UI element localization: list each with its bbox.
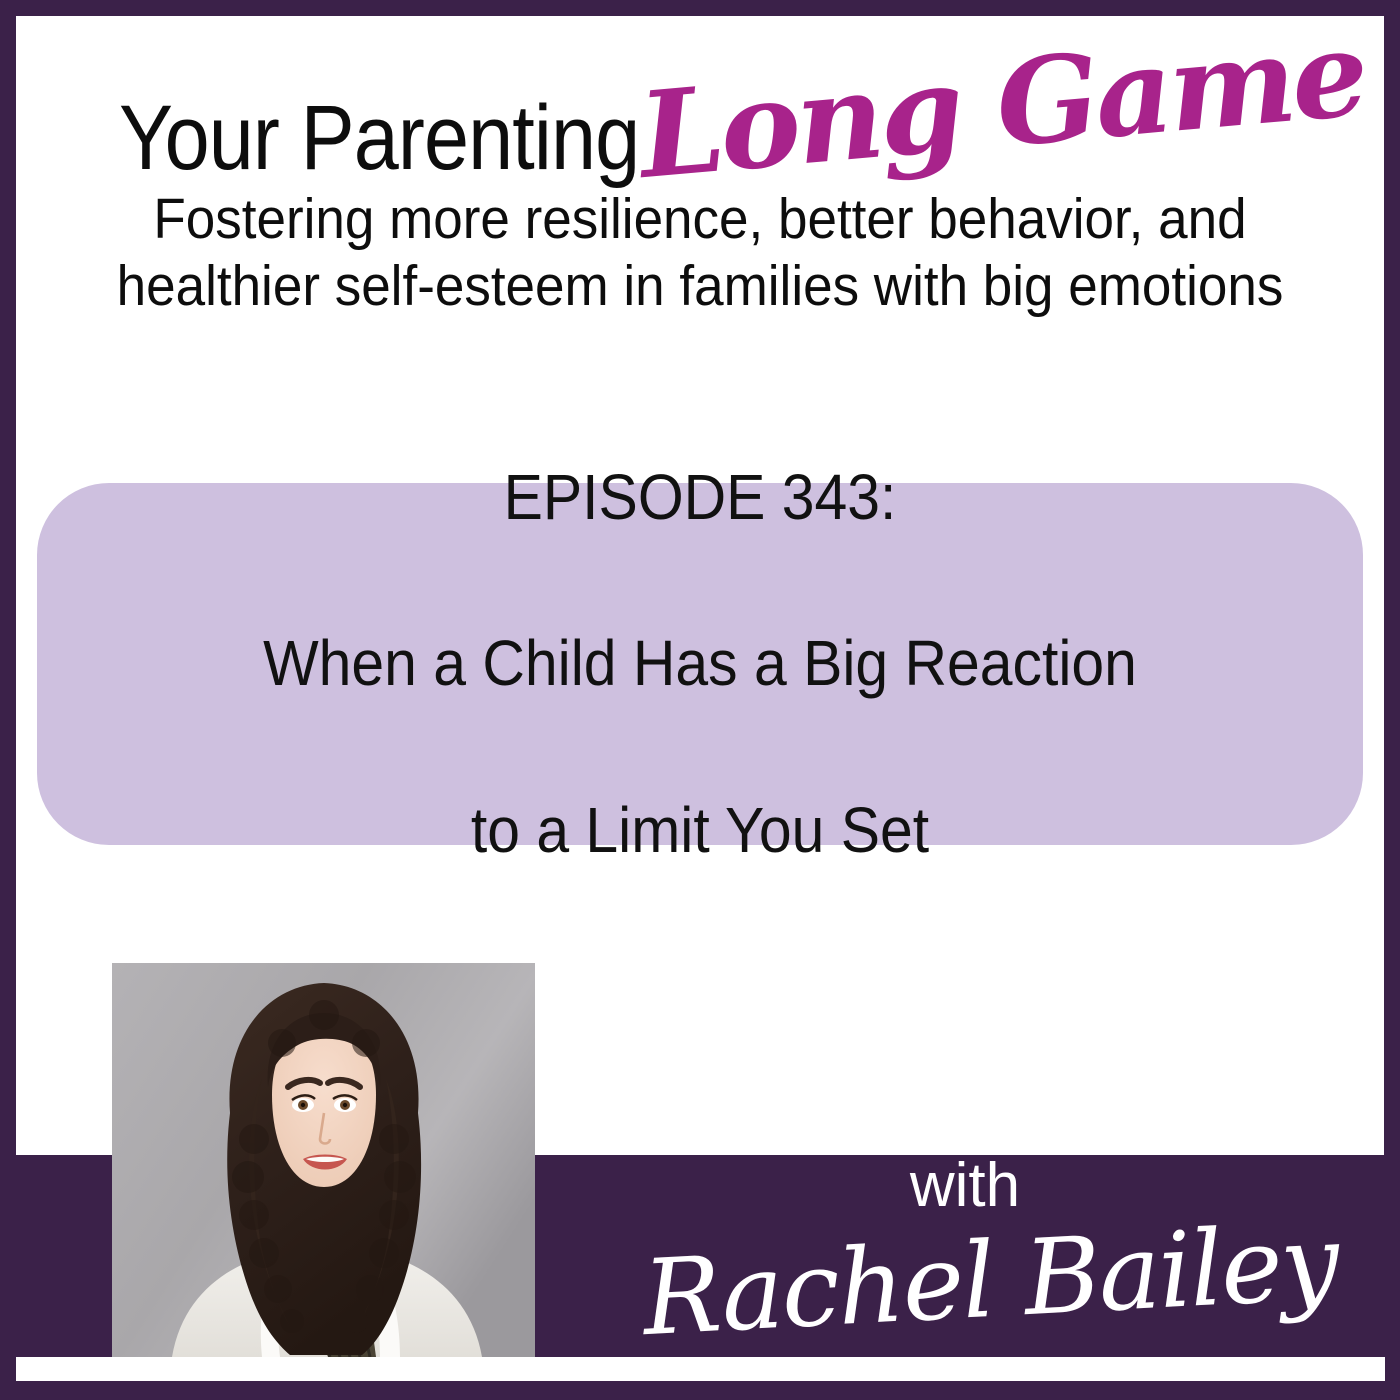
episode-title-box: EPISODE 343: When a Child Has a Big Reac… [37,483,1363,845]
tagline-line-1: Fostering more resilience, better behavi… [153,187,1246,251]
episode-title-text: EPISODE 343: When a Child Has a Big Reac… [90,373,1310,955]
bottom-white-strip [16,1357,1385,1381]
podcast-tagline: Fostering more resilience, better behavi… [114,186,1286,319]
podcast-title: Your ParentingLong Game [0,58,1400,188]
episode-title-line-1: When a Child Has a Big Reaction [90,622,1310,705]
episode-title-line-2: to a Limit You Set [90,789,1310,872]
podcast-title-main: Your Parenting [119,86,639,191]
host-photo [112,963,535,1357]
podcast-cover-art: Your ParentingLong Game Fostering more r… [0,0,1400,1400]
tagline-line-2: healthier self-esteem in families with b… [117,254,1284,318]
avatar [112,963,535,1357]
with-label: with [700,1155,1230,1217]
episode-number-label: EPISODE 343: [90,456,1310,539]
